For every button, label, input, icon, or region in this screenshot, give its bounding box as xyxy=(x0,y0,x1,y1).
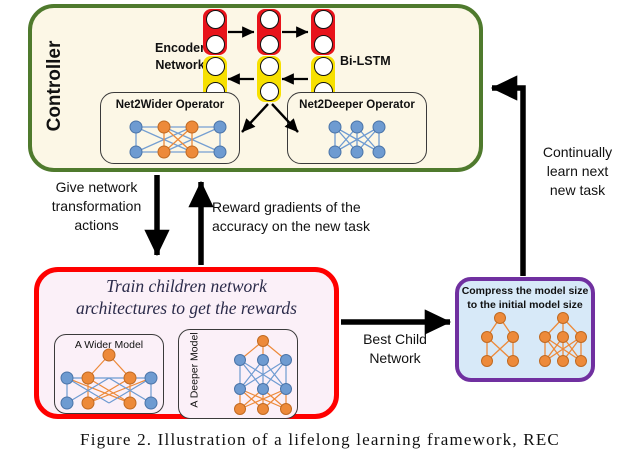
lstm-unit xyxy=(314,10,333,29)
lstm-unit xyxy=(260,10,279,29)
lstm-cell-forward-3 xyxy=(311,9,335,55)
give-actions-line2: transformation xyxy=(24,197,169,216)
compress-title: Compress the model size to the initial m… xyxy=(455,284,595,312)
lstm-unit xyxy=(206,57,225,76)
deeper-model-title-wrap: A Deeper Model xyxy=(157,360,231,378)
continually-arrow xyxy=(492,88,523,276)
net2deeper-operator-box: Net2Deeper Operator xyxy=(287,92,427,164)
net2wider-title: Net2Wider Operator xyxy=(101,99,239,111)
figure-canvas: Controller Encoder Network Bi-LSTM Net2W… xyxy=(0,0,640,450)
best-child-caption: Best Child Network xyxy=(340,330,450,368)
lstm-unit xyxy=(260,82,279,101)
lstm-cell-backward-2 xyxy=(257,56,281,102)
net2wider-operator-box: Net2Wider Operator xyxy=(100,92,240,164)
trainer-title-line2: architectures to get the rewards xyxy=(34,297,339,319)
lstm-unit xyxy=(314,35,333,54)
lstm-cell-forward-1 xyxy=(203,9,227,55)
controller-label-text: Controller xyxy=(44,26,66,146)
trainer-title-line1: Train children network xyxy=(34,275,339,297)
lstm-unit xyxy=(314,57,333,76)
controller-label: Controller xyxy=(44,26,66,146)
give-actions-caption: Give network transformation actions xyxy=(24,178,169,235)
compress-title-line1: Compress the model size xyxy=(455,284,595,298)
reward-line2: accuracy on the new task xyxy=(212,217,427,236)
best-child-line1: Best Child xyxy=(340,330,450,349)
wider-model-box: A Wider Model xyxy=(54,334,164,414)
best-child-line2: Network xyxy=(340,349,450,368)
lstm-unit xyxy=(260,35,279,54)
compress-title-line2: to the initial model size xyxy=(455,298,595,312)
figure-caption: Figure 2. Illustration of a lifelong lea… xyxy=(0,430,640,450)
reward-caption: Reward gradients of the accuracy on the … xyxy=(212,198,427,236)
give-actions-line1: Give network xyxy=(24,178,169,197)
wider-model-title: A Wider Model xyxy=(55,339,163,351)
lstm-unit xyxy=(206,35,225,54)
continually-line3: new task xyxy=(520,181,635,200)
reward-line1: Reward gradients of the xyxy=(212,198,427,217)
continually-line1: Continually xyxy=(520,143,635,162)
trainer-title: Train children network architectures to … xyxy=(34,275,339,319)
deeper-model-box: A Deeper Model xyxy=(178,329,298,419)
lstm-unit xyxy=(260,57,279,76)
continually-caption: Continually learn next new task xyxy=(520,143,635,200)
bilstm-label: Bi-LSTM xyxy=(340,54,391,68)
net2deeper-title: Net2Deeper Operator xyxy=(288,99,426,111)
continually-line2: learn next xyxy=(520,162,635,181)
lstm-unit xyxy=(206,10,225,29)
give-actions-line3: actions xyxy=(24,216,169,235)
deeper-model-title: A Deeper Model xyxy=(189,332,201,407)
lstm-cell-forward-2 xyxy=(257,9,281,55)
